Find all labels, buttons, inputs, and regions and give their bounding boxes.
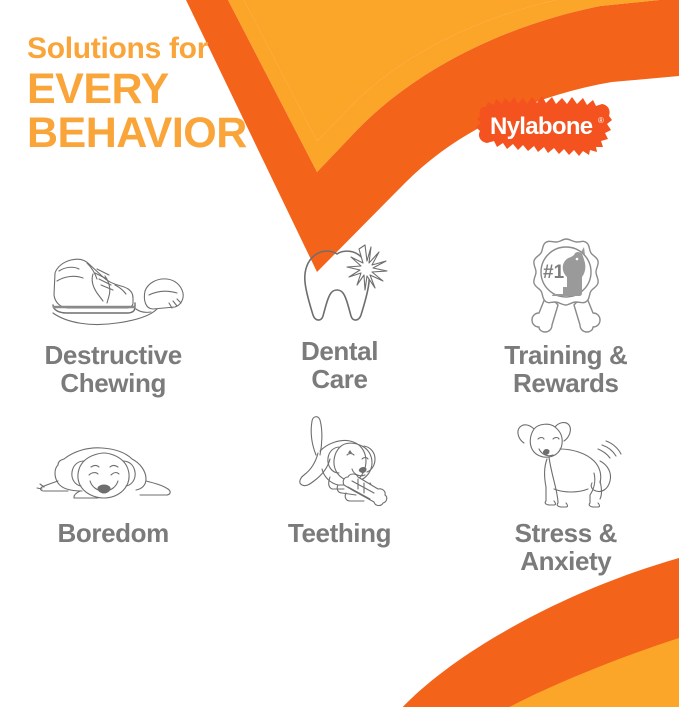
behavior-label: Training & Rewards [504,342,627,397]
sparkling-tooth-icon [279,243,399,329]
nylabone-logo: Nylabone ® [474,92,614,158]
behavior-label: Stress & Anxiety [515,520,617,575]
behavior-row-bottom: Boredom [0,421,679,575]
behavior-item-teething: Teething [226,421,452,575]
badge-rank-text: #1 [543,262,565,283]
behavior-item-boredom: Boredom [0,421,226,575]
promo-banner: Solutions for EVERY BEHAVIOR Nylabone ® [0,0,679,707]
behavior-label: Boredom [58,520,169,548]
anxious-dog-icon [506,421,626,511]
behavior-label: Destructive Chewing [45,342,182,397]
behavior-label: Teething [288,520,391,548]
headline-line-3: BEHAVIOR [27,111,327,155]
award-rosette-icon: #1 [511,243,621,333]
brand-name-text: Nylabone [490,113,593,140]
behavior-item-destructive-chewing: Destructive Chewing [0,243,226,397]
puppy-chewing-bone-icon [274,421,404,511]
bottom-swoosh-dark [398,558,679,707]
behavior-item-stress-anxiety: Stress & Anxiety [453,421,679,575]
chewed-shoe-icon [33,243,193,333]
brush-bone-logo-icon: Nylabone ® [476,96,612,156]
headline-line-1: Solutions for [27,33,327,65]
behavior-item-training-rewards: #1 Training & Rewards [453,243,679,397]
brand-trademark-symbol: ® [598,116,604,125]
bottom-swoosh-light [500,638,679,707]
headline-line-2: EVERY [27,67,327,111]
behavior-item-dental-care: Dental Care [226,243,452,397]
behavior-label: Dental Care [301,338,378,393]
behavior-row-top: Destructive Chewing Dental Care [0,243,679,397]
headline-block: Solutions for EVERY BEHAVIOR [27,33,327,155]
behavior-grid: Destructive Chewing Dental Care [0,243,679,575]
sleeping-dog-icon [28,421,198,511]
